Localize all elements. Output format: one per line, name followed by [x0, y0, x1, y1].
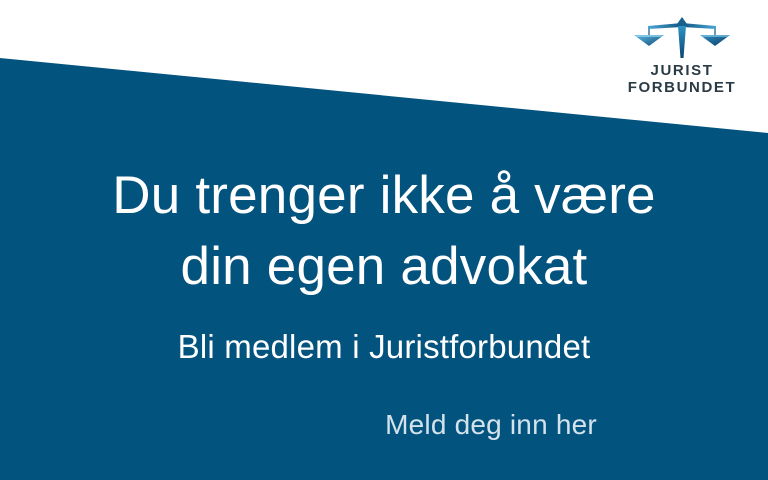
cta-container: Meld deg inn her [0, 409, 768, 441]
brand-wordmark-line1: JURIST [628, 63, 737, 80]
advertisement-banner[interactable]: JURIST FORBUNDET Du trenger ikke å være … [0, 0, 768, 480]
brand-logo[interactable]: JURIST FORBUNDET [618, 14, 746, 97]
signup-link[interactable]: Meld deg inn her [385, 409, 597, 441]
headline: Du trenger ikke å være din egen advokat [0, 160, 768, 302]
brand-wordmark-line2: FORBUNDET [628, 80, 737, 97]
scales-of-justice-icon [630, 14, 734, 60]
headline-line-1: Du trenger ikke å være [0, 160, 768, 231]
subtitle: Bli medlem i Juristforbundet [0, 328, 768, 366]
brand-wordmark: JURIST FORBUNDET [628, 63, 737, 97]
headline-line-2: din egen advokat [0, 231, 768, 302]
